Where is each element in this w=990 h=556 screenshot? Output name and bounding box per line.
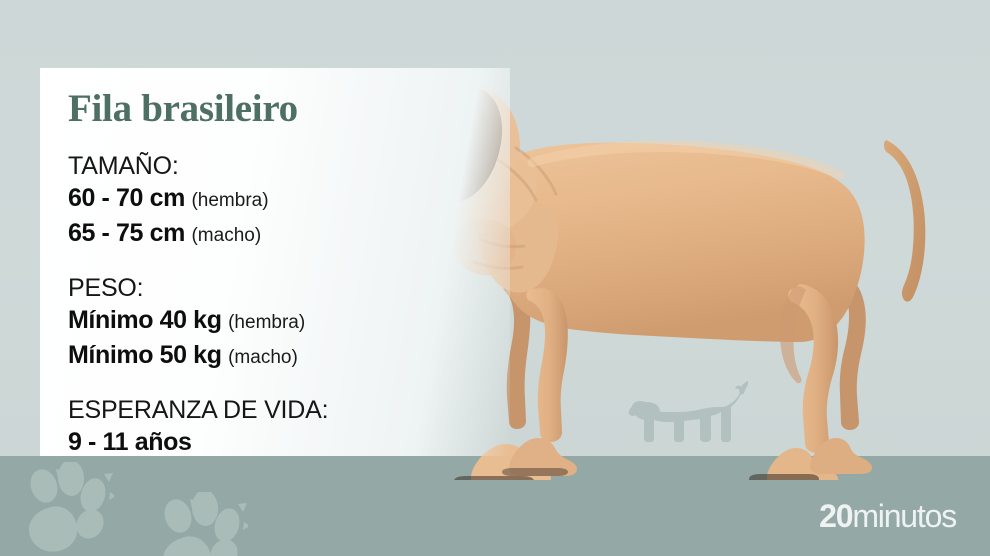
stat-label: ESPERANZA DE VIDA: — [68, 394, 488, 426]
stat-note: (macho) — [228, 347, 298, 368]
stat-value: 60 - 70 cm — [68, 184, 185, 212]
stat-label: TAMAÑO: — [68, 150, 488, 182]
stat-value: Mínimo 40 kg — [68, 306, 222, 334]
stat-note: (macho) — [191, 225, 261, 246]
brand-logo-number: 20 — [819, 498, 852, 534]
stat-value: 9 - 11 años — [68, 428, 191, 456]
stat-group-weight: PESO: Mínimo 40 kg (hembra) Mínimo 50 kg… — [68, 272, 488, 374]
stat-note: (hembra) — [228, 312, 305, 333]
page-title: Fila brasileiro — [68, 86, 488, 132]
breed-info-card: Fila brasileiro TAMAÑO: 60 - 70 cm (hemb… — [40, 68, 510, 456]
stat-row: Mínimo 40 kg (hembra) — [68, 304, 488, 339]
brand-logo-word: minutos — [852, 498, 956, 534]
brand-logo: 20minutos — [819, 498, 956, 534]
stat-group-lifespan: ESPERANZA DE VIDA: 9 - 11 años — [68, 394, 488, 458]
infographic-canvas: Fila brasileiro TAMAÑO: 60 - 70 cm (hemb… — [0, 0, 990, 556]
stat-group-size: TAMAÑO: 60 - 70 cm (hembra) 65 - 75 cm (… — [68, 150, 488, 252]
stat-row: 65 - 75 cm (macho) — [68, 217, 488, 252]
stat-note: (hembra) — [191, 190, 268, 211]
stat-label: PESO: — [68, 272, 488, 304]
paw-print-icon — [152, 492, 248, 556]
paw-print-icon — [18, 462, 114, 554]
stat-row: Mínimo 50 kg (macho) — [68, 339, 488, 374]
stat-row: 60 - 70 cm (hembra) — [68, 182, 488, 217]
stat-value: Mínimo 50 kg — [68, 341, 222, 369]
stat-row: 9 - 11 años — [68, 426, 488, 458]
stat-value: 65 - 75 cm — [68, 219, 185, 247]
